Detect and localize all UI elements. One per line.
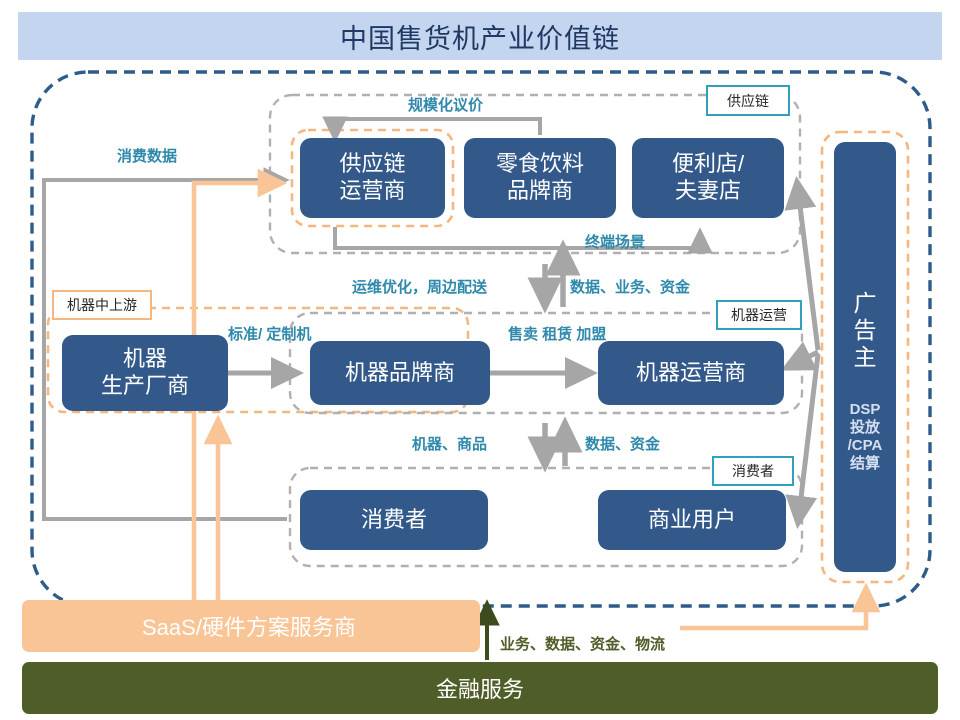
arrow-adv-to-operator	[786, 352, 818, 368]
page-title: 中国售货机产业价值链	[340, 17, 620, 56]
title-banner: 中国售货机产业价值链	[18, 12, 942, 60]
tag-supply-chain: 供应链	[706, 85, 790, 116]
node-machine-manufacturer[interactable]: 机器 生产厂商	[62, 335, 228, 411]
node-label: 零食饮料	[496, 151, 584, 178]
bar-finance[interactable]: 金融服务	[22, 662, 938, 714]
node-label: 品牌商	[507, 178, 573, 205]
bar-saas-label: SaaS/硬件方案服务商	[22, 610, 480, 642]
tag-label: 机器中上游	[67, 295, 137, 315]
label-machine-goods: 机器、商品	[412, 436, 487, 453]
tag-label: 供应链	[727, 91, 769, 111]
label-sell-lease: 售卖 租赁 加盟	[508, 326, 606, 343]
label-finance-flow: 业务、数据、资金、物流	[500, 633, 665, 654]
node-label: 商业用户	[648, 507, 736, 534]
bar-finance-label: 金融服务	[22, 672, 938, 704]
label-terminal-scene: 终端场景	[585, 234, 645, 251]
orange-saas-to-advertiser	[680, 588, 866, 628]
node-snack-brand[interactable]: 零食饮料 品牌商	[464, 138, 616, 218]
advertiser-vertical-label: 广 告 主	[854, 290, 877, 371]
label-ops-optimize: 运维优化，周边配送	[352, 279, 487, 296]
diagram-root: 中国售货机产业价值链	[0, 0, 960, 720]
tag-label: 消费者	[732, 461, 774, 481]
node-machine-operator[interactable]: 机器运营商	[598, 341, 784, 405]
node-label: 机器运营商	[636, 360, 746, 387]
tag-machine-upstream: 机器中上游	[52, 290, 152, 320]
node-label: 机器品牌商	[345, 360, 455, 387]
label-scale-bargain: 规模化议价	[408, 97, 483, 114]
node-convenience-store[interactable]: 便利店/ 夫妻店	[632, 138, 784, 218]
node-label: 夫妻店	[675, 178, 741, 205]
arrow-adv-to-business	[798, 354, 818, 523]
node-machine-brand[interactable]: 机器品牌商	[310, 341, 490, 405]
node-label: 便利店/	[672, 151, 744, 178]
node-label: 供应链	[339, 151, 405, 178]
node-label: 生产厂商	[101, 373, 189, 400]
node-label: 运营商	[339, 178, 405, 205]
arrow-terminal-scene	[335, 227, 700, 248]
label-data-fund: 数据、资金	[585, 436, 660, 453]
node-consumer[interactable]: 消费者	[300, 490, 488, 550]
node-label: 消费者	[361, 507, 427, 534]
bar-saas[interactable]: SaaS/硬件方案服务商	[22, 600, 480, 652]
tag-label: 机器运营	[731, 305, 787, 325]
label-consumption-data: 消费数据	[117, 148, 177, 165]
node-advertiser[interactable]: 广 告 主 DSP 投放 /CPA 结算	[834, 142, 896, 572]
tag-consumer: 消费者	[712, 456, 794, 486]
node-supply-chain-operator[interactable]: 供应链 运营商	[300, 138, 445, 218]
node-label: 机器	[123, 346, 167, 373]
node-business-user[interactable]: 商业用户	[598, 490, 786, 550]
label-data-biz-fund: 数据、业务、资金	[570, 279, 690, 296]
label-standard-custom: 标准/ 定制机	[228, 326, 311, 343]
advertiser-dsp-label: DSP 投放 /CPA 结算	[848, 401, 883, 473]
tag-machine-operation: 机器运营	[716, 300, 802, 330]
arrow-scale-bargain	[335, 119, 540, 138]
